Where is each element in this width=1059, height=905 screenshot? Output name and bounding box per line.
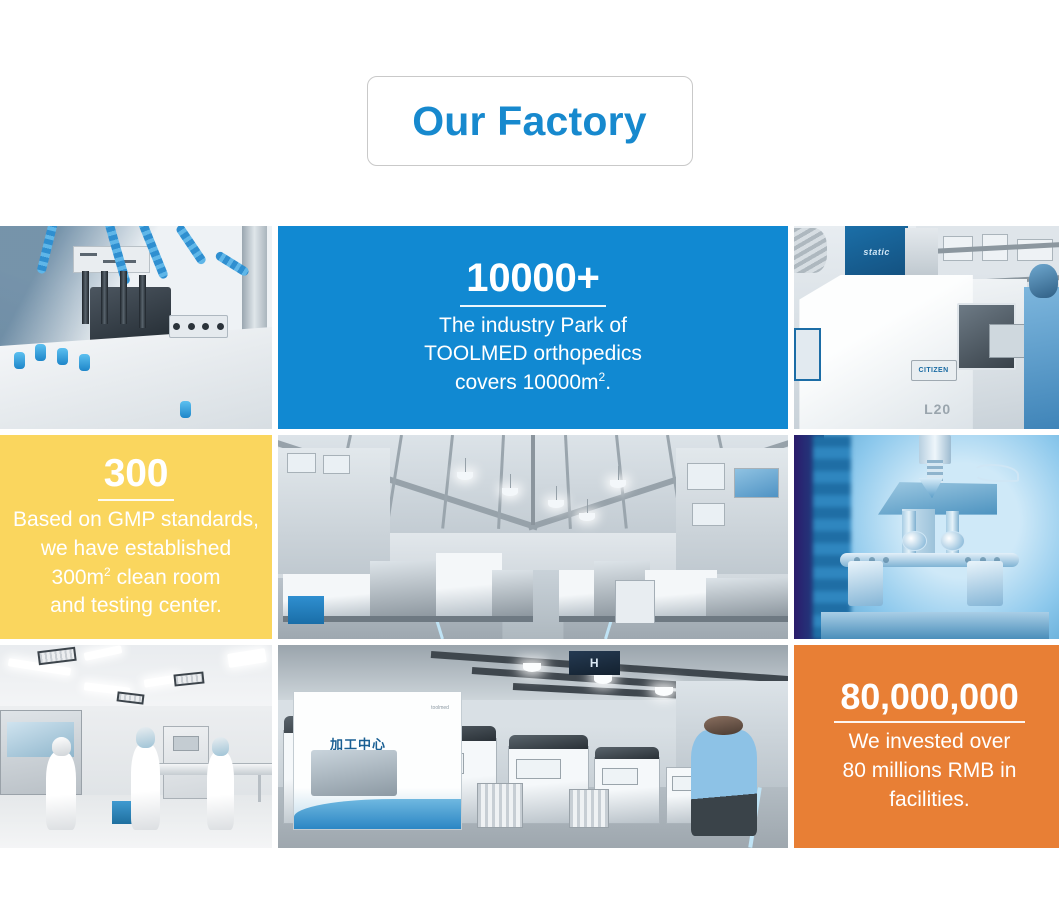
window [734,468,779,498]
stat-line-tail: clean room [111,566,221,589]
stat-line: The industry Park of [424,312,642,341]
machine-brand-badge: CITIZEN [911,360,957,380]
cnc-machine [706,578,788,623]
banner-machine-illustration [311,750,397,796]
window [692,503,726,526]
stat-description-investment: We invested over 80 millions RMB in faci… [843,728,1017,814]
ceiling-lamp-icon [610,480,626,488]
worker-head [1029,264,1058,298]
coolant-nozzle-icon [180,401,191,418]
stat-line: covers 10000m2. [424,369,642,398]
coolant-nozzle-icon [14,352,25,369]
coolant-nozzle-icon [35,344,46,361]
photo-clean-room [0,645,272,848]
roof-ridge [531,435,535,524]
test-machine-base [821,612,1049,638]
stat-line-tail: . [605,371,611,394]
stat-number-cleanroom: 300 [98,453,174,501]
pegboard-rack [569,789,610,828]
page-title-container: Our Factory [0,76,1059,166]
ceiling-lamp-icon [579,513,595,521]
cabinet-brand-label: static [863,247,890,257]
window [323,455,350,474]
wire-clip-icon [973,464,1019,482]
roller-bearing [902,531,926,551]
worker-figure [691,730,757,836]
unit-superscript: 2 [104,565,111,579]
haas-logo-icon: H [569,651,620,675]
machine-hood [595,747,659,759]
coolant-hose-icon [36,226,58,274]
drill-spindle [120,271,127,324]
photo-cnc-tooling [0,226,272,429]
ceiling-lamp-icon [523,663,541,672]
worker-head [52,737,71,756]
control-panel [989,324,1027,359]
right-wall [676,448,788,574]
banner-wave-decoration [294,799,460,829]
worker-figure [131,744,161,829]
stat-panel-investment: 80,000,000 We invested over 80 millions … [794,645,1059,848]
stat-line: facilities. [843,786,1017,815]
worker-figure [207,752,234,829]
stat-panel-area: 10000+ The industry Park of TOOLMED orth… [278,226,788,429]
drill-spindle [82,271,89,324]
machine-hood [509,735,589,749]
stat-line: We invested over [843,728,1017,757]
gear-rack-blurred [813,435,851,638]
worker-figure [1024,287,1059,429]
photo-cnc-lathe: static CITIZEN L20 [794,226,1059,429]
coolant-nozzle-icon [79,354,90,371]
stat-description-area: The industry Park of TOOLMED orthopedics… [424,312,642,398]
coolant-nozzle-icon [57,348,68,365]
stat-line-text: covers 10000m [455,371,599,394]
banner-logo: toolmed [431,705,449,713]
stat-line: Based on GMP standards, [13,506,259,535]
factory-photo-grid: 10000+ The industry Park of TOOLMED orth… [0,226,1059,848]
machine-screen [516,759,561,779]
machine-screen [602,768,638,785]
machine-bed [0,325,272,429]
stat-panel-cleanroom: 300 Based on GMP standards, we have esta… [0,435,272,638]
stat-line: we have established [13,535,259,564]
worker-figure [46,752,76,829]
worker-head [136,727,155,747]
photo-machining-center-row: H 加工中心 CNC Machining Center toolmed [278,645,788,848]
photo-workshop-hall [278,435,788,638]
worker-head [212,737,229,756]
tool-cart [615,580,656,625]
extraction-duct [794,228,827,273]
stat-line: TOOLMED orthopedics [424,340,642,369]
stat-number-investment: 80,000,000 [834,678,1024,723]
pegboard-rack [477,783,523,828]
stat-description-cleanroom: Based on GMP standards, we have establis… [13,506,259,621]
window [287,453,316,473]
stat-line-text: 300m [52,566,105,589]
window [687,463,725,491]
stat-line: and testing center. [13,592,259,621]
wall-poster [794,328,821,381]
roller-bearing [940,531,964,551]
department-banner: 加工中心 CNC Machining Center toolmed [293,691,461,829]
machine-blue-cabinet: static [845,226,907,281]
coolant-hose-icon [175,226,207,266]
machine-model-label: L20 [924,401,951,417]
worker-head [704,716,742,735]
fixture-block [848,561,883,606]
door-vision-panel [173,736,199,752]
page-title: Our Factory [412,101,647,142]
fixture-block [967,561,1002,606]
left-wall [278,448,390,574]
stat-line: 300m2 clean room [13,564,259,593]
drill-spindle [101,271,108,324]
cnc-machine [492,570,533,623]
machine-brand-text: CITIZEN [919,367,949,374]
stat-number-area: 10000+ [460,257,605,306]
factory-infographic-page: Our Factory [0,0,1059,905]
drill-spindle [139,275,146,328]
stat-line: 80 millions RMB in [843,757,1017,786]
coolant-drum [288,596,324,624]
page-title-pill: Our Factory [367,76,693,166]
photo-bend-test [794,435,1059,638]
valve-knob-row [169,315,229,337]
ceiling-lamp-icon [457,472,473,480]
